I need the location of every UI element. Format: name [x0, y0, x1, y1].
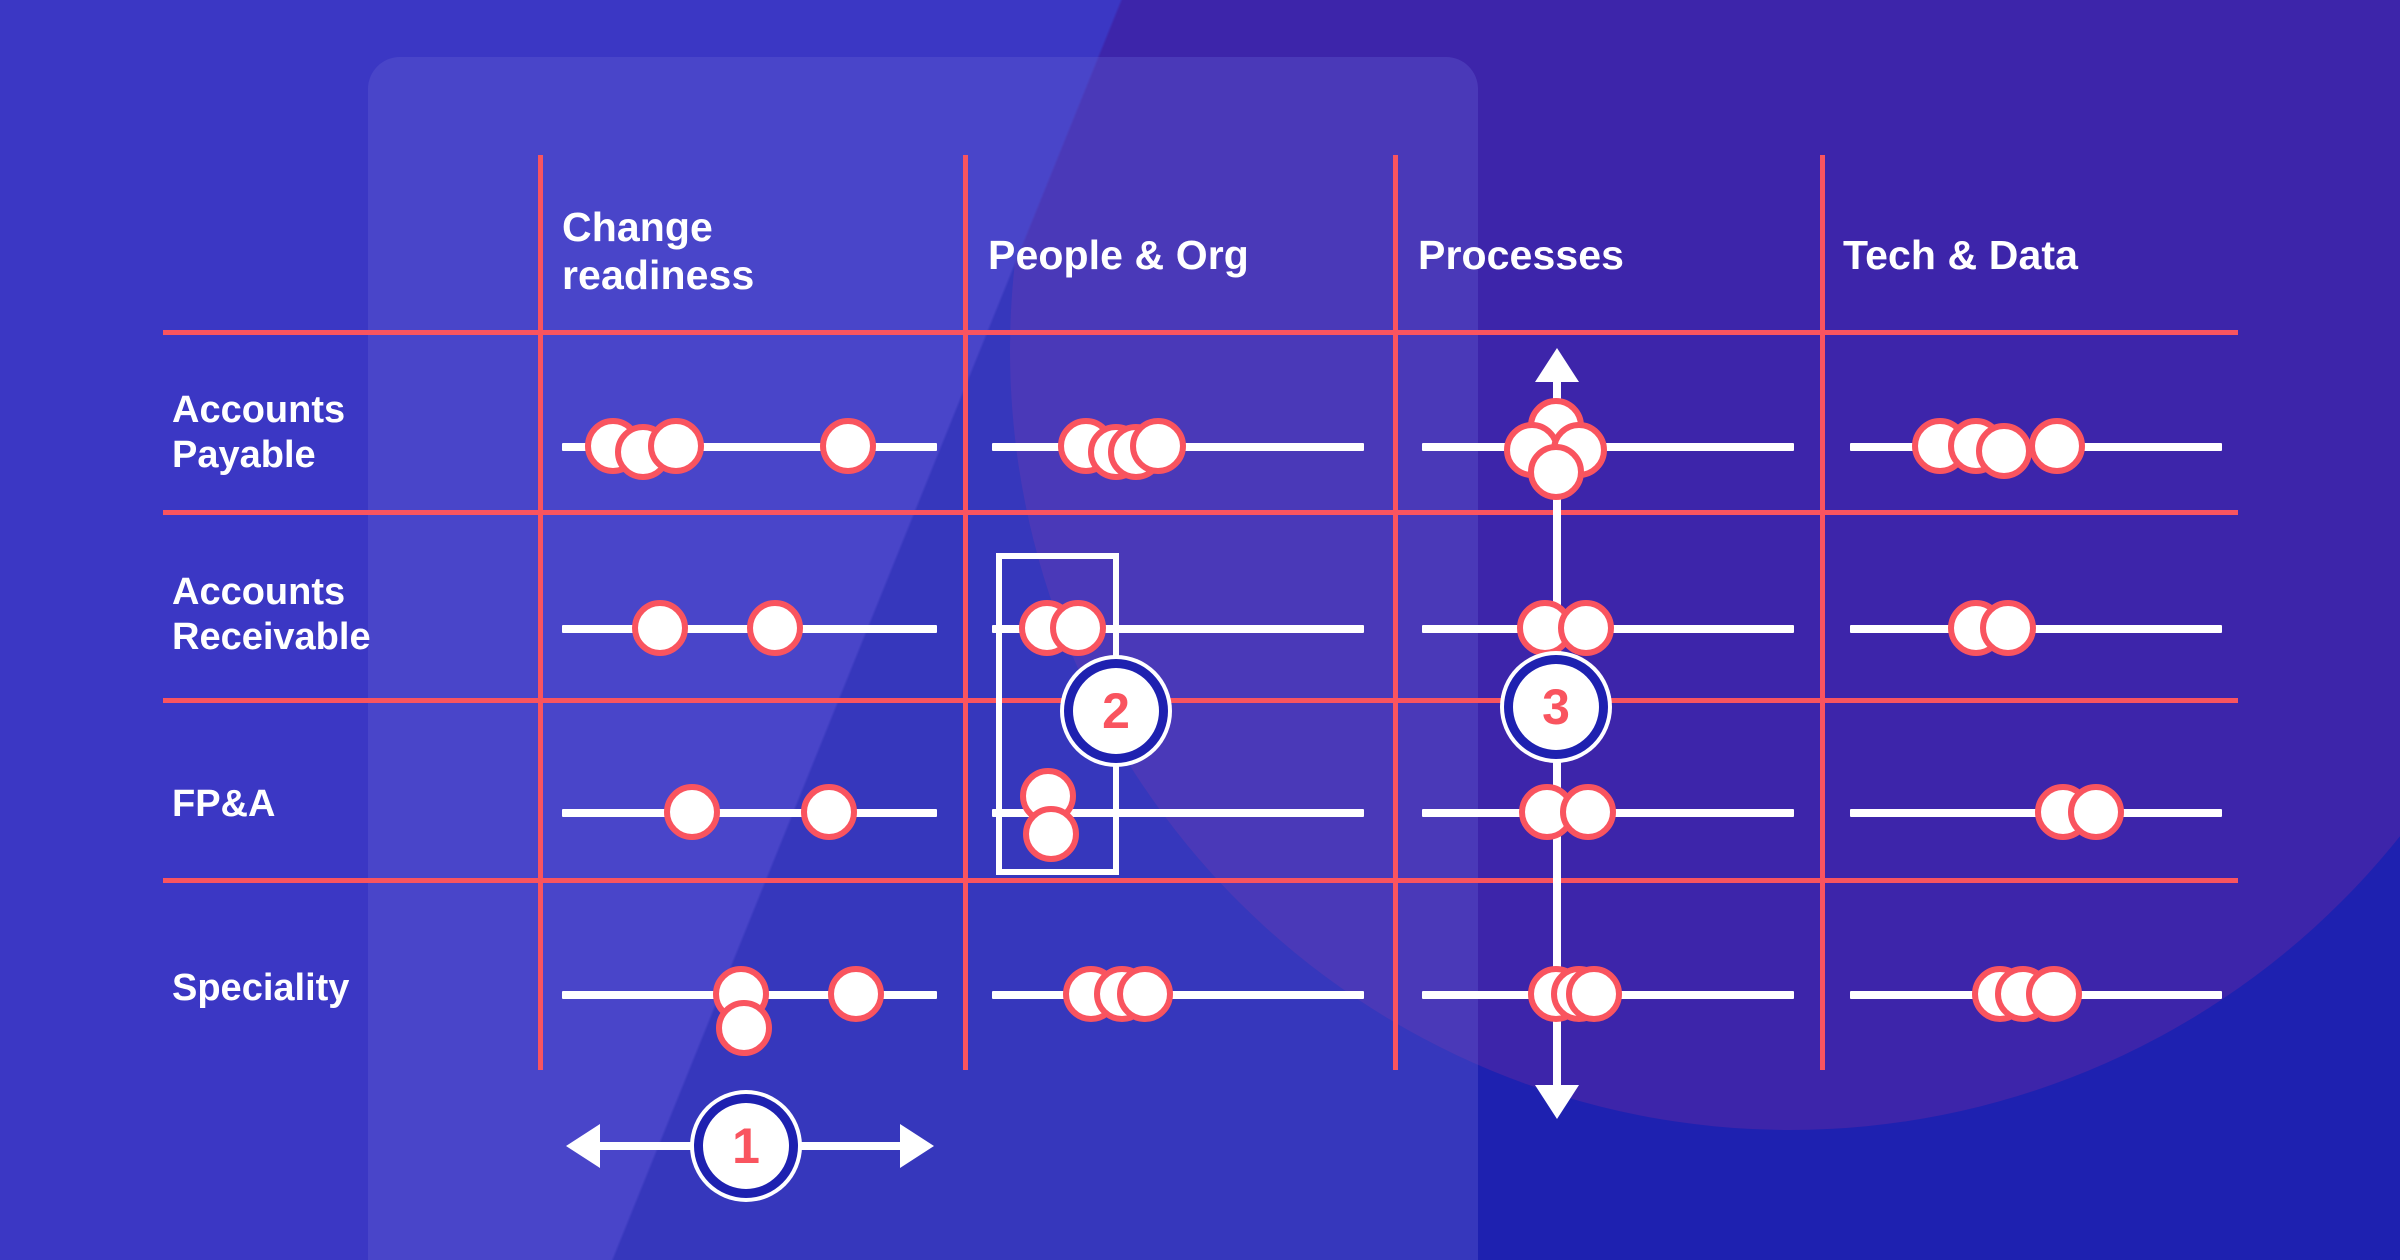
maturity-matrix: Change readiness People & Org Processes …: [0, 0, 2400, 1260]
column-header-people-org: People & Org: [988, 231, 1249, 279]
data-dot[interactable]: [801, 784, 857, 840]
data-dot[interactable]: [648, 418, 704, 474]
data-dot[interactable]: [1023, 806, 1079, 862]
scale-line: [992, 991, 1364, 999]
row-header-speciality: Speciality: [172, 966, 349, 1011]
column-header-change-readiness: Change readiness: [562, 203, 754, 300]
data-dot[interactable]: [820, 418, 876, 474]
row-header-accounts-receivable: Accounts Receivable: [172, 570, 371, 660]
data-dot[interactable]: [1976, 423, 2032, 479]
data-dot[interactable]: [2026, 966, 2082, 1022]
grid-hline-3: [163, 698, 2238, 703]
grid-hline-1: [163, 330, 2238, 335]
change-readiness-horizontal-arrow-head-left: [566, 1124, 600, 1168]
data-dot[interactable]: [2068, 784, 2124, 840]
data-dot[interactable]: [1566, 966, 1622, 1022]
data-dot[interactable]: [1528, 444, 1584, 500]
data-dot[interactable]: [1558, 600, 1614, 656]
callout-badge-1[interactable]: 1: [703, 1103, 789, 1189]
grid-vline-4: [1820, 155, 1825, 1070]
data-dot[interactable]: [1050, 600, 1106, 656]
grid-hline-4: [163, 878, 2238, 883]
change-readiness-horizontal-arrow-head-right: [900, 1124, 934, 1168]
data-dot[interactable]: [828, 966, 884, 1022]
callout-badge-3[interactable]: 3: [1513, 664, 1599, 750]
processes-vertical-arrow-head-down: [1535, 1085, 1579, 1119]
grid-hline-2: [163, 510, 2238, 515]
grid-vline-2: [963, 155, 968, 1070]
grid-vline-1: [538, 155, 543, 1070]
data-dot[interactable]: [632, 600, 688, 656]
data-dot[interactable]: [664, 784, 720, 840]
row-header-accounts-payable: Accounts Payable: [172, 388, 345, 478]
callout-badge-2[interactable]: 2: [1073, 668, 1159, 754]
data-dot[interactable]: [1560, 784, 1616, 840]
grid-vline-3: [1393, 155, 1398, 1070]
data-dot[interactable]: [747, 600, 803, 656]
data-dot[interactable]: [1117, 966, 1173, 1022]
scale-line: [1422, 443, 1794, 451]
data-dot[interactable]: [716, 1000, 772, 1056]
processes-vertical-arrow-head-up: [1535, 348, 1579, 382]
data-dot[interactable]: [1980, 600, 2036, 656]
scale-line: [1850, 625, 2222, 633]
data-dot[interactable]: [2029, 418, 2085, 474]
column-header-processes: Processes: [1418, 231, 1624, 279]
column-header-tech-data: Tech & Data: [1843, 231, 2078, 279]
data-dot[interactable]: [1130, 418, 1186, 474]
row-header-fpa: FP&A: [172, 782, 275, 827]
scale-line: [562, 809, 937, 817]
